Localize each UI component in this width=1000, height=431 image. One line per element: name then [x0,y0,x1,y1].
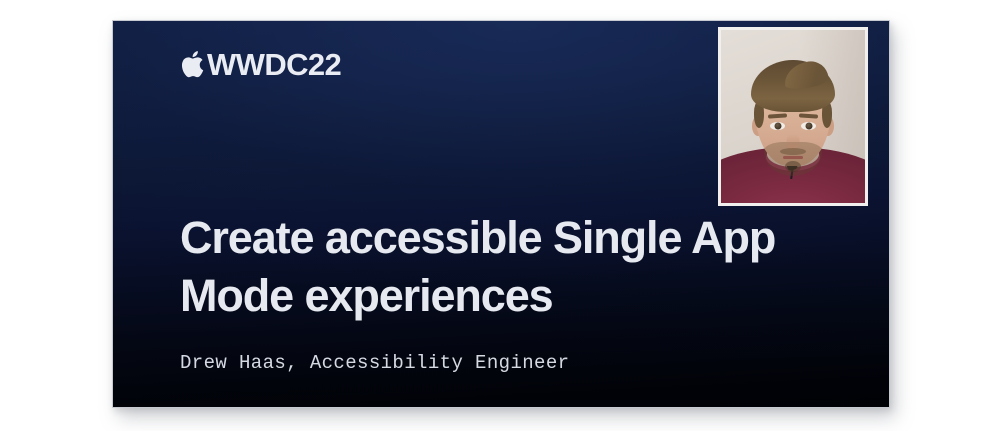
presenter-mouth [783,156,803,159]
wwdc-label: WWDC22 [207,49,341,80]
presenter-photo-frame [718,27,868,206]
presenter-iris-right [805,123,812,130]
title-block: Create accessible Single App Mode experi… [180,209,840,375]
wwdc-lockup: WWDC22 [179,49,341,80]
page-background: WWDC22 Create accessible Single App Mode… [0,0,1000,431]
apple-logo-icon [179,49,204,79]
presenter-eye-left [770,122,785,130]
presenter-mustache [780,148,806,155]
slide-subtitle: Drew Haas, Accessibility Engineer [180,325,840,375]
presentation-slide: WWDC22 Create accessible Single App Mode… [112,20,890,408]
presenter-chin-beard [785,161,801,172]
presenter-portrait [721,30,865,203]
presenter-iris-left [774,123,781,130]
presenter-eye-right [801,122,816,130]
slide-title: Create accessible Single App Mode experi… [180,209,840,325]
